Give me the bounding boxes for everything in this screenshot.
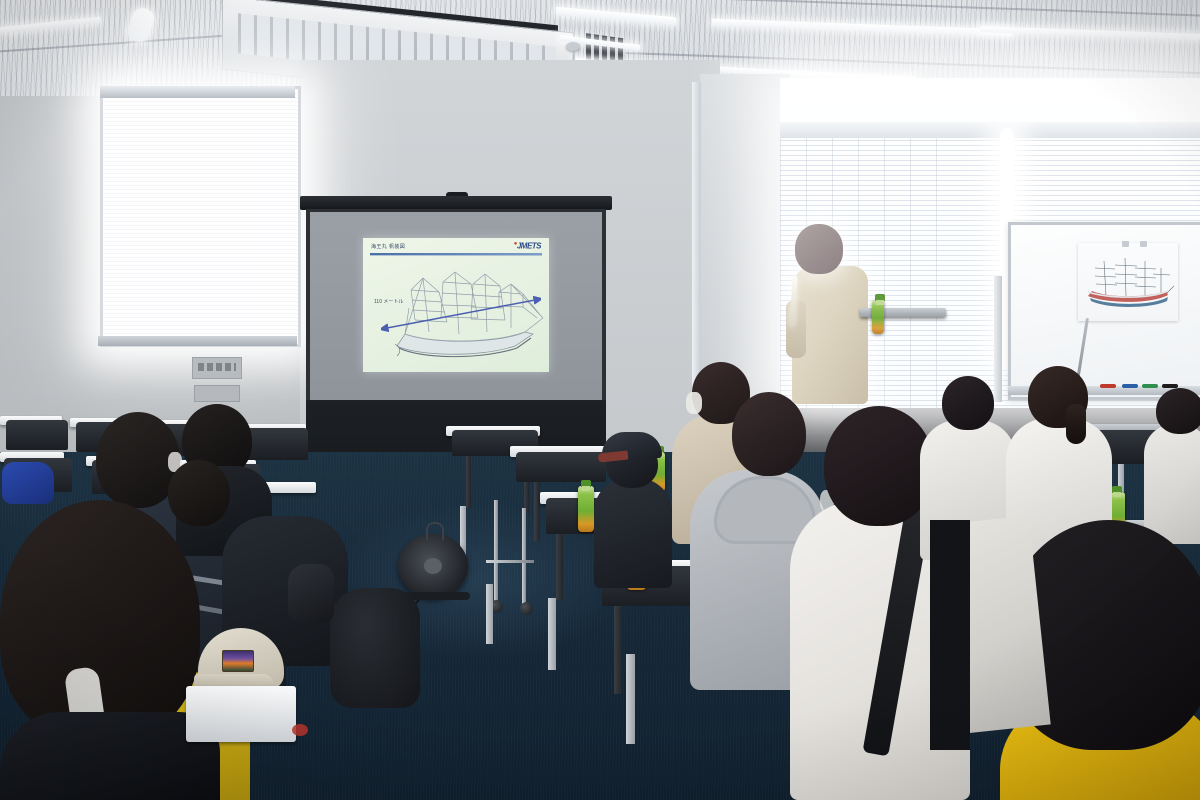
whiteboard-marker[interactable] (1142, 384, 1158, 388)
presenter-head (795, 224, 843, 274)
cart-pole (522, 508, 526, 606)
whiteboard-side-post (994, 276, 1002, 402)
desk-leg (486, 584, 493, 644)
attendee-body (1144, 424, 1200, 544)
cap-patch (222, 650, 254, 672)
poster-tape (1140, 241, 1147, 247)
projected-slide: 海王丸 帆装図 ●JMETS (363, 238, 549, 372)
cable-reel-handle[interactable] (426, 522, 444, 540)
attendee-head (732, 392, 806, 476)
ponytail (1066, 404, 1086, 444)
cart-pole (494, 500, 498, 604)
cable-reel-hub (424, 558, 442, 574)
wall-sign-plate (192, 357, 242, 379)
blue-bag (2, 462, 54, 504)
attendee-head (1156, 388, 1200, 434)
cart-crossbar (486, 560, 534, 563)
poster-ship-illustration (1082, 252, 1174, 314)
slide-title: 海王丸 帆装図 (371, 243, 405, 250)
left-window (100, 86, 301, 347)
jmets-logo: ●JMETS (514, 241, 541, 251)
drink-bottle[interactable] (578, 486, 594, 532)
slide-measure-label: 110 メートル (374, 298, 403, 305)
wall-sign-plate (194, 385, 240, 402)
left-window-header (100, 86, 295, 98)
presenter-arm (786, 300, 806, 358)
tablet-arm (186, 686, 296, 742)
attendee-head (824, 406, 934, 526)
whiteboard-marker[interactable] (1100, 384, 1116, 388)
left-window-blind (103, 89, 298, 344)
projection-screen-case (300, 196, 612, 210)
attendee-head (942, 376, 994, 430)
attendee-body (594, 478, 672, 588)
small-object (292, 724, 308, 736)
desk-leg (548, 598, 556, 670)
left-window-sill (98, 336, 297, 346)
backpack (330, 588, 420, 708)
chair (6, 420, 68, 450)
bottle-neck (582, 486, 590, 491)
attendee-head (168, 460, 230, 526)
whiteboard-marker[interactable] (1122, 384, 1138, 388)
dimension-arrow (381, 294, 541, 334)
poster-tape (1122, 241, 1129, 247)
bottle-neck (876, 300, 884, 305)
logo-text: JMETS (517, 242, 541, 251)
lecture-room-photo: 海王丸 帆装図 ●JMETS (0, 0, 1200, 800)
face-mask (686, 392, 702, 414)
right-wall-panel (700, 74, 790, 404)
chair-edge (930, 520, 970, 750)
chair (516, 452, 606, 482)
bottle-neck (1113, 492, 1121, 497)
right-window-blind-headrail (780, 122, 1200, 138)
desk-leg (626, 654, 635, 744)
drink-bottle[interactable] (872, 300, 884, 334)
slide-title-rule-secondary (370, 255, 542, 256)
cart-caster (520, 602, 533, 615)
bag (288, 564, 334, 622)
wall-mullion (692, 82, 701, 412)
